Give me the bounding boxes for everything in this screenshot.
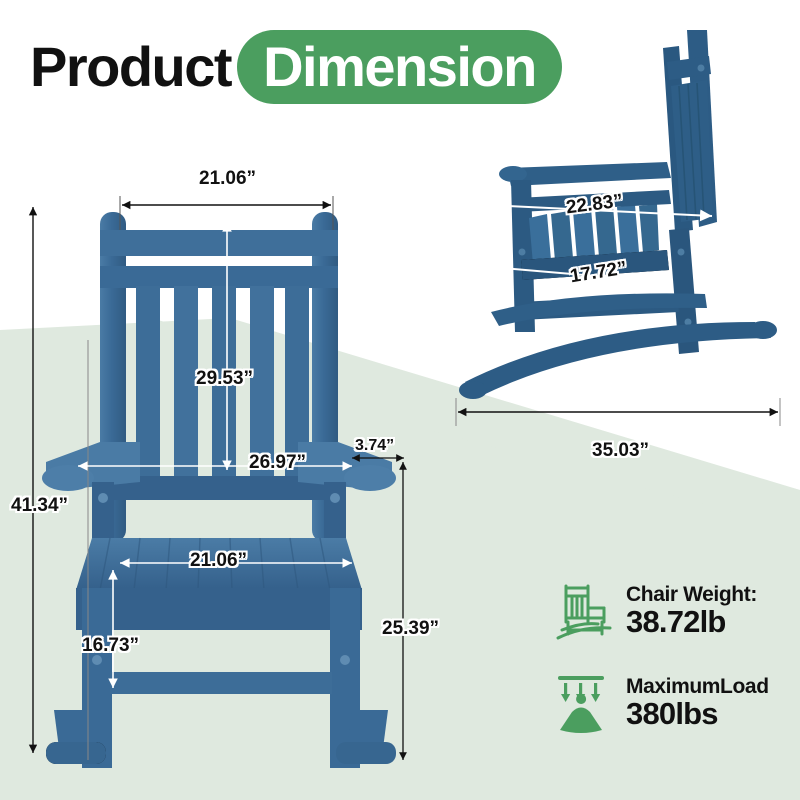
spec-label-maximum-load: MaximumLoad: [626, 676, 769, 698]
rocking-chair-icon: [552, 578, 614, 644]
dim-overall-height: 41.34”: [11, 495, 68, 517]
spec-list: Chair Weight: 38.72lb MaximumLoad: [552, 578, 792, 762]
product-dimension-infographic: Product Dimension: [0, 0, 800, 800]
dim-overall-width: 21.06”: [199, 168, 256, 190]
dim-overall-depth: 35.03”: [592, 440, 649, 462]
dim-arm-height: 26.97”: [249, 452, 306, 474]
spec-value-chair-weight: 38.72lb: [626, 606, 757, 639]
spec-row-chair-weight: Chair Weight: 38.72lb: [552, 578, 792, 644]
spec-label-chair-weight: Chair Weight:: [626, 584, 757, 606]
dim-backrest-height: 29.53”: [196, 368, 253, 390]
spec-text-maximum-load: MaximumLoad 380lbs: [626, 676, 769, 731]
maximum-load-icon: [552, 670, 614, 736]
dim-seat-height: 16.73”: [82, 635, 139, 657]
dim-seat-width: 21.06”: [190, 550, 247, 572]
front-view-dimension-lines: [0, 0, 460, 800]
spec-row-maximum-load: MaximumLoad 380lbs: [552, 670, 792, 736]
spec-value-maximum-load: 380lbs: [626, 698, 769, 731]
dim-arm-width: 3.74”: [355, 437, 394, 455]
dim-back-height: 25.39”: [382, 618, 439, 640]
spec-text-chair-weight: Chair Weight: 38.72lb: [626, 584, 757, 639]
